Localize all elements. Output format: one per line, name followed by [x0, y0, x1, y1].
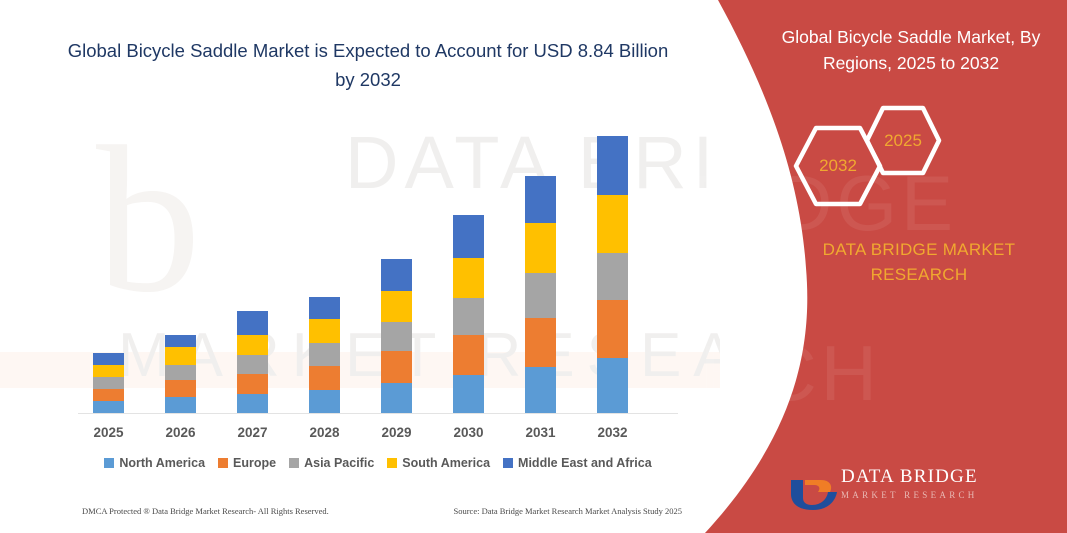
- bar-segment-middle-east-and-africa-2027: [237, 311, 268, 335]
- legend-item-europe[interactable]: Europe: [218, 456, 276, 470]
- legend-swatch-icon: [503, 458, 513, 468]
- chart-plot-area: 20252026202720282029203020312032: [0, 0, 700, 533]
- chart-legend: North AmericaEuropeAsia PacificSouth Ame…: [78, 456, 678, 470]
- bar-segment-south-america-2028: [309, 319, 340, 343]
- bar-segment-south-america-2031: [525, 223, 556, 273]
- x-axis-label-2030: 2030: [434, 425, 504, 440]
- bar-segment-europe-2029: [381, 351, 412, 383]
- logo-subtitle: MARKET RESEARCH: [841, 490, 978, 500]
- footer-source: Source: Data Bridge Market Research Mark…: [453, 506, 682, 516]
- legend-swatch-icon: [218, 458, 228, 468]
- logo-text: DATA BRIDGE MARKET RESEARCH: [841, 466, 978, 500]
- legend-label: South America: [402, 456, 490, 470]
- bar-segment-north-america-2032: [597, 358, 628, 413]
- bar-segment-asia-pacific-2030: [453, 298, 484, 335]
- x-axis-label-2032: 2032: [578, 425, 648, 440]
- bar-segment-asia-pacific-2027: [237, 355, 268, 374]
- footer-copyright: DMCA Protected ® Data Bridge Market Rese…: [82, 506, 329, 516]
- bar-segment-europe-2028: [309, 366, 340, 390]
- bar-segment-middle-east-and-africa-2026: [165, 335, 196, 347]
- bar-segment-middle-east-and-africa-2032: [597, 136, 628, 195]
- bar-2031[interactable]: [525, 176, 556, 413]
- hexagon-2032-label: 2032: [792, 156, 884, 176]
- bar-segment-north-america-2026: [165, 397, 196, 413]
- x-axis-label-2029: 2029: [362, 425, 432, 440]
- legend-label: Europe: [233, 456, 276, 470]
- bar-segment-middle-east-and-africa-2030: [453, 215, 484, 258]
- bar-segment-north-america-2030: [453, 375, 484, 413]
- bar-segment-south-america-2032: [597, 195, 628, 253]
- right-panel: Global Bicycle Saddle Market, By Regions…: [767, 0, 1067, 533]
- bar-segment-south-america-2029: [381, 291, 412, 322]
- bar-segment-asia-pacific-2025: [93, 377, 124, 389]
- legend-label: North America: [119, 456, 205, 470]
- logo: DATA BRIDGE MARKET RESEARCH: [785, 462, 1055, 514]
- footer: DMCA Protected ® Data Bridge Market Rese…: [82, 506, 682, 516]
- bar-segment-europe-2030: [453, 335, 484, 375]
- x-axis-line: [78, 413, 678, 414]
- brand-name: DATA BRIDGE MARKET RESEARCH: [775, 237, 1063, 287]
- legend-item-south-america[interactable]: South America: [387, 456, 490, 470]
- x-axis-label-2028: 2028: [290, 425, 360, 440]
- infographic-root: b DATA BRIDGE MARKET RESEARCH Global Bic…: [0, 0, 1067, 533]
- bar-segment-europe-2025: [93, 389, 124, 401]
- bar-segment-middle-east-and-africa-2025: [93, 353, 124, 365]
- x-axis-label-2027: 2027: [218, 425, 288, 440]
- legend-label: Asia Pacific: [304, 456, 374, 470]
- bar-segment-europe-2032: [597, 300, 628, 358]
- bar-segment-south-america-2025: [93, 365, 124, 377]
- bar-segment-north-america-2029: [381, 383, 412, 413]
- legend-swatch-icon: [289, 458, 299, 468]
- bar-segment-asia-pacific-2032: [597, 253, 628, 300]
- bar-segment-middle-east-and-africa-2031: [525, 176, 556, 223]
- x-axis-label-2025: 2025: [74, 425, 144, 440]
- x-axis-label-2026: 2026: [146, 425, 216, 440]
- bar-segment-north-america-2027: [237, 394, 268, 413]
- legend-swatch-icon: [104, 458, 114, 468]
- bar-2029[interactable]: [381, 259, 412, 413]
- bar-segment-asia-pacific-2028: [309, 343, 340, 366]
- panel-title: Global Bicycle Saddle Market, By Regions…: [767, 24, 1055, 76]
- legend-item-middle-east-and-africa[interactable]: Middle East and Africa: [503, 456, 652, 470]
- bar-2025[interactable]: [93, 353, 124, 413]
- legend-swatch-icon: [387, 458, 397, 468]
- x-axis-label-2031: 2031: [506, 425, 576, 440]
- bar-segment-north-america-2028: [309, 390, 340, 413]
- bar-segment-asia-pacific-2026: [165, 365, 196, 380]
- bar-segment-asia-pacific-2029: [381, 322, 412, 351]
- hexagon-2032: 2032: [792, 124, 884, 208]
- bar-segment-europe-2031: [525, 318, 556, 367]
- bar-segment-europe-2026: [165, 380, 196, 397]
- bar-2026[interactable]: [165, 335, 196, 413]
- bar-segment-middle-east-and-africa-2028: [309, 297, 340, 319]
- hexagon-group: 2025 2032: [767, 104, 1067, 214]
- bar-segment-south-america-2026: [165, 347, 196, 365]
- legend-item-asia-pacific[interactable]: Asia Pacific: [289, 456, 374, 470]
- bar-segment-middle-east-and-africa-2029: [381, 259, 412, 291]
- bar-segment-europe-2027: [237, 374, 268, 394]
- legend-item-north-america[interactable]: North America: [104, 456, 205, 470]
- legend-label: Middle East and Africa: [518, 456, 652, 470]
- bar-segment-north-america-2031: [525, 367, 556, 413]
- data-bridge-logo-icon: [785, 464, 837, 515]
- bar-segment-south-america-2027: [237, 335, 268, 355]
- bar-2032[interactable]: [597, 136, 628, 413]
- bar-segment-south-america-2030: [453, 258, 484, 298]
- bar-2030[interactable]: [453, 215, 484, 413]
- bar-segment-asia-pacific-2031: [525, 273, 556, 318]
- bar-2027[interactable]: [237, 311, 268, 413]
- logo-title: DATA BRIDGE: [841, 466, 978, 488]
- bar-segment-north-america-2025: [93, 401, 124, 413]
- bar-2028[interactable]: [309, 297, 340, 413]
